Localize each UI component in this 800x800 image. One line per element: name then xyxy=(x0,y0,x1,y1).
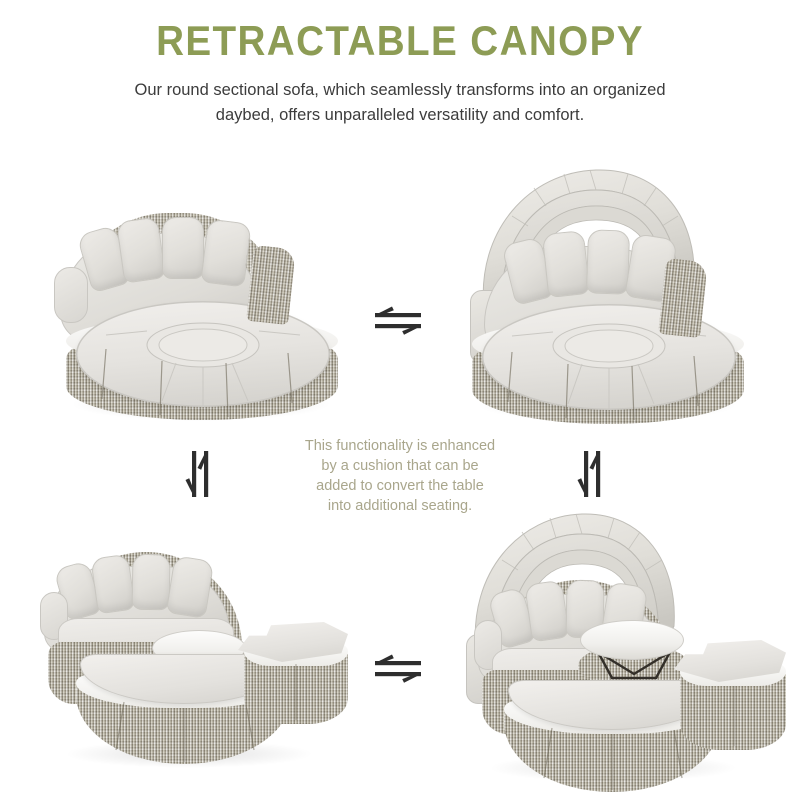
annotation-line-2: by a cushion that can be xyxy=(321,458,478,474)
page-title: RETRACTABLE CANOPY xyxy=(32,18,768,64)
annotation-line-4: into additional seating. xyxy=(328,498,472,514)
right-side-wicker-wing xyxy=(246,245,296,325)
right-side-wicker-wing xyxy=(658,258,708,338)
annotation-line-3: added to convert the table xyxy=(316,478,484,494)
arrow-bottom-horizontal xyxy=(372,648,424,690)
annotation-line-1: This functionality is enhanced xyxy=(305,438,495,454)
back-pillow xyxy=(542,230,590,298)
wicker-panel-seams xyxy=(472,344,744,424)
subtitle-line-1: Our round sectional sofa, which seamless… xyxy=(134,81,665,99)
table-top xyxy=(580,620,684,660)
ottoman-panel-seams xyxy=(244,662,348,724)
scene-top-left xyxy=(52,205,352,430)
wicker-panel-seams xyxy=(66,341,338,421)
subtitle-line-2: daybed, offers unparalleled versatility … xyxy=(216,106,584,124)
ottoman-panel-seams xyxy=(680,684,786,750)
small-wedge-ottoman xyxy=(674,636,788,754)
scene-bottom-right xyxy=(448,508,788,790)
back-pillow xyxy=(586,229,630,294)
page-subtitle: Our round sectional sofa, which seamless… xyxy=(60,78,740,128)
scene-top-right xyxy=(448,160,768,430)
back-pillow xyxy=(200,219,251,288)
product-infographic: RETRACTABLE CANOPY Our round sectional s… xyxy=(0,0,800,800)
back-pillow xyxy=(116,216,166,283)
back-pillow xyxy=(162,217,204,279)
sofa-pillow xyxy=(132,554,171,611)
arrow-top-horizontal xyxy=(372,300,424,342)
arrow-left-vertical xyxy=(180,448,222,500)
annotation-text: This functionality is enhanced by a cush… xyxy=(275,436,525,516)
arrow-right-vertical xyxy=(572,448,614,500)
small-wedge-ottoman xyxy=(238,618,350,728)
scene-bottom-left xyxy=(34,544,354,774)
